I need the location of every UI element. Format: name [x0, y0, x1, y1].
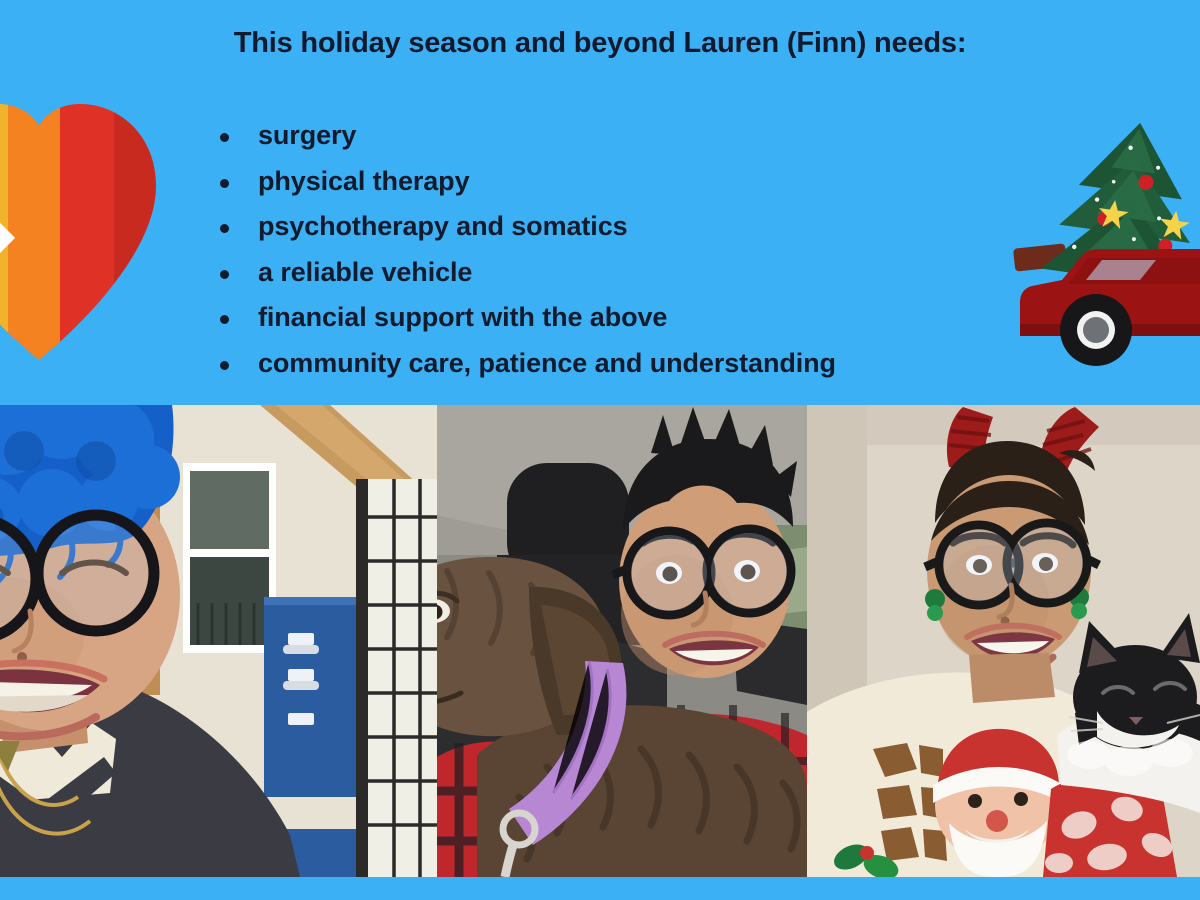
holiday-needs-poster: Progress Pride flag heart: [0, 0, 1200, 900]
need-label: physical therapy: [258, 166, 470, 196]
page-title: This holiday season and beyond Lauren (F…: [0, 27, 1200, 60]
photo-person-with-cat: Smiling person wearing red reindeer antl…: [807, 405, 1200, 877]
progress-pride-heart-icon: Progress Pride flag heart: [0, 78, 164, 363]
need-label: a reliable vehicle: [258, 257, 472, 287]
photo-person-with-dog-in-car: Person with short dark hair and round bl…: [437, 405, 807, 877]
list-item: a reliable vehicle: [214, 254, 836, 291]
need-label: community care, patience and understandi…: [258, 348, 836, 378]
photo-strip: Smiling person with bright blue curly ha…: [0, 405, 1200, 877]
car-with-christmas-tree-icon: Red car carrying a decorated Christmas t…: [1006, 118, 1200, 386]
list-item: physical therapy: [214, 163, 836, 200]
list-item: financial support with the above: [214, 299, 836, 336]
need-label: financial support with the above: [258, 302, 667, 332]
list-item: community care, patience and understandi…: [214, 345, 836, 382]
needs-list: surgery physical therapy psychotherapy a…: [214, 117, 836, 390]
need-label: surgery: [258, 120, 356, 150]
list-item: surgery: [214, 117, 836, 154]
need-label: psychotherapy and somatics: [258, 211, 628, 241]
list-item: psychotherapy and somatics: [214, 208, 836, 245]
photo-person-blue-hair: Smiling person with bright blue curly ha…: [0, 405, 437, 877]
